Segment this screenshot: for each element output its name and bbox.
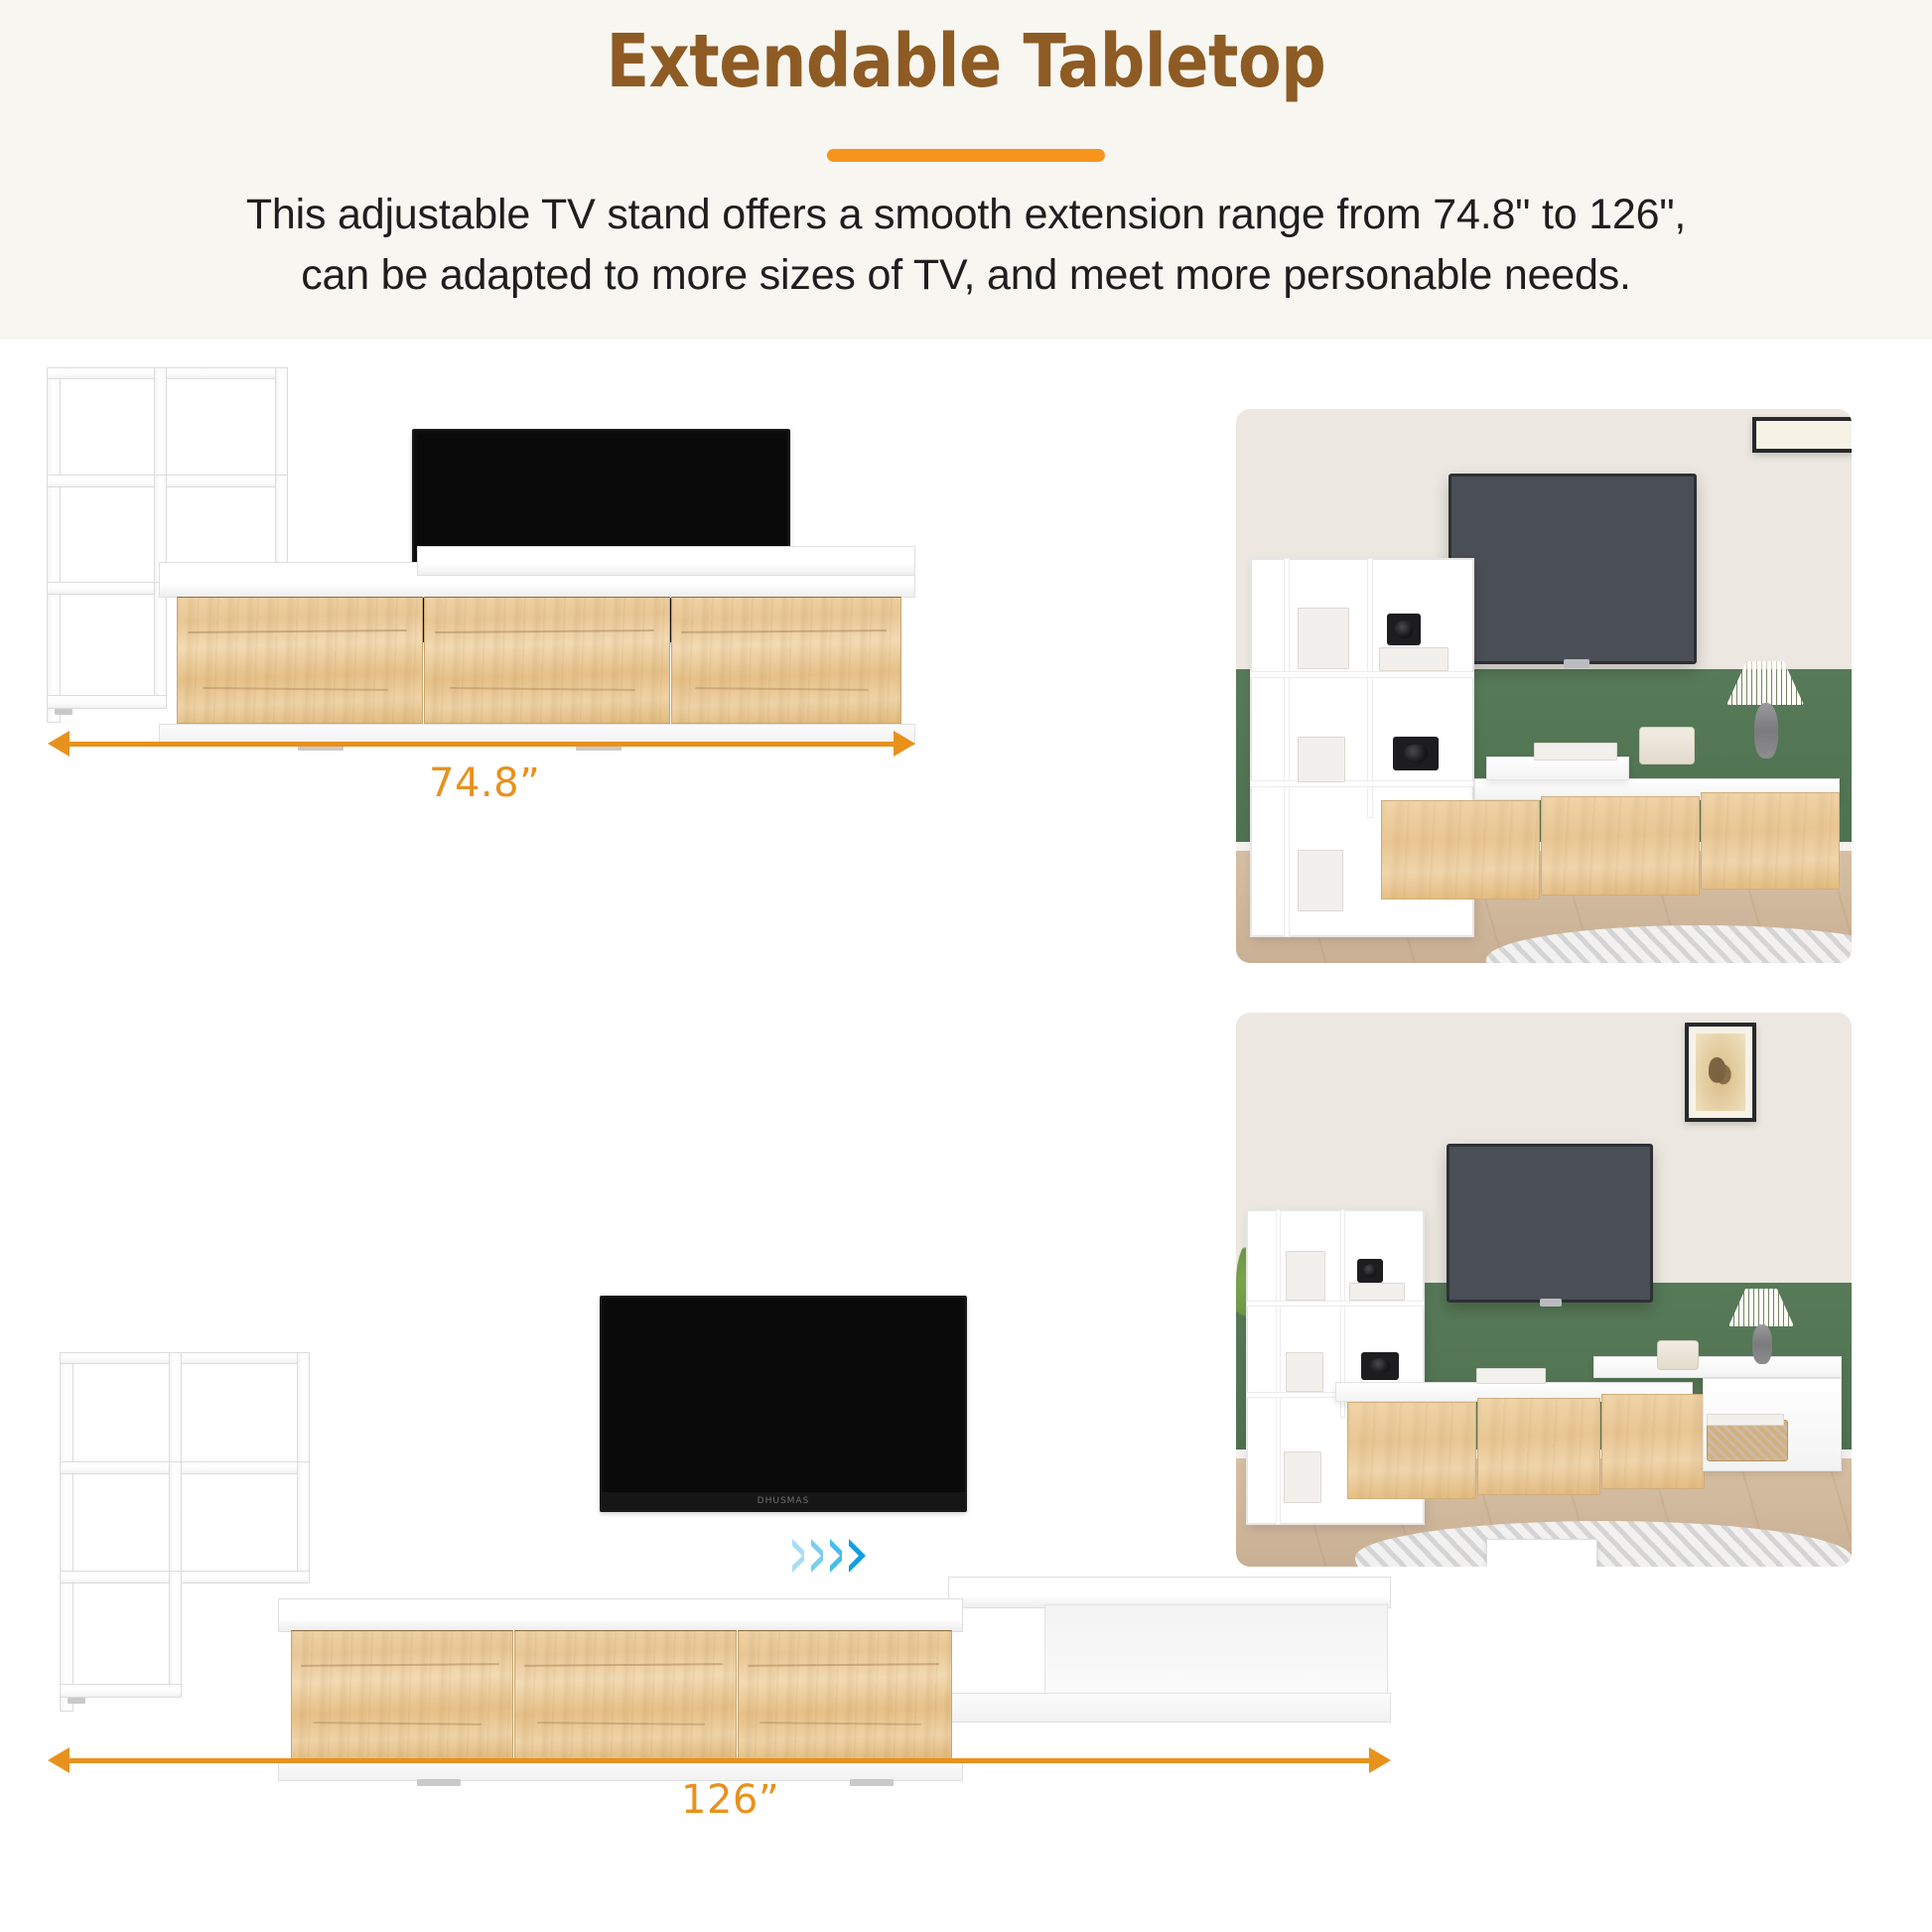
photo-top-cabinet-door-3 [1701, 792, 1840, 890]
compact-cabinet-door-3[interactable] [671, 597, 901, 724]
photo-bottom-camera-lens [1370, 1358, 1391, 1373]
extension-chevrons [792, 1539, 866, 1573]
photo-top-book-1 [1298, 608, 1349, 669]
compact-configuration-diagram: DHUSMAS [0, 340, 983, 1025]
photo-bottom-shelf-vert-1 [1276, 1209, 1281, 1525]
photo-top-tabletop-books [1534, 743, 1617, 760]
subtitle-line-1: This adjustable TV stand offers a smooth… [0, 185, 1932, 245]
photo-top-tv [1449, 474, 1697, 664]
ext-shelf-upper-right-side [297, 1352, 310, 1473]
photo-bottom-cabinet-door-2 [1477, 1398, 1600, 1495]
extended-tv: DHUSMAS [600, 1296, 967, 1512]
photo-bottom-art-canvas [1696, 1034, 1745, 1111]
ext-shelf-left-side [60, 1352, 73, 1712]
extended-cabinet-foot-2 [850, 1779, 894, 1786]
extended-dimension-arrow [48, 1757, 1391, 1763]
photo-bottom-lens-icon [1363, 1264, 1377, 1277]
photo-top-cabinet-door-2 [1541, 796, 1700, 896]
compact-cabinet-top-riser [417, 546, 915, 576]
photo-bottom-tv [1447, 1144, 1653, 1303]
extended-tv-brand-label: DHUSMAS [758, 1496, 810, 1506]
extended-tv-screen [605, 1301, 962, 1492]
chevron-right-icon-4 [849, 1539, 866, 1573]
photo-top-shelf-vert-2 [1367, 558, 1373, 818]
extended-cabinet-door-1[interactable] [291, 1630, 513, 1759]
extended-open-compartment [1044, 1604, 1388, 1698]
photo-top-lamp-base [1754, 703, 1778, 759]
ext-shelf-middle-right-side [297, 1461, 310, 1583]
ext-shelf-lower-divider [169, 1571, 182, 1698]
shelf-board-1 [47, 475, 288, 487]
photo-bottom-book-3 [1284, 1451, 1321, 1503]
shelf-upper-divider [154, 367, 167, 486]
subtitle-line-2: can be adapted to more sizes of TV, and … [0, 245, 1932, 306]
photo-bottom-basket-papers [1707, 1414, 1784, 1426]
extended-arrow-line [60, 1758, 1379, 1763]
shelf-lower-divider [154, 582, 167, 707]
header-band: Extendable Tabletop This adjustable TV s… [0, 0, 1932, 340]
infographic-page: Extendable Tabletop This adjustable TV s… [0, 0, 1932, 1932]
photo-top-lens-icon [1395, 621, 1414, 638]
page-title: Extendable Tabletop [135, 24, 1797, 101]
photo-bottom-basket [1707, 1420, 1788, 1461]
ext-shelf-bottom-board [60, 1684, 182, 1698]
extended-dimension-label: 126” [681, 1777, 779, 1823]
photo-bottom-lamp-base [1752, 1324, 1772, 1364]
photo-bottom-speaker [1657, 1340, 1699, 1370]
photo-top-shelf-horiz-1 [1250, 671, 1474, 678]
photo-bottom-framed-art [1685, 1023, 1756, 1122]
page-subtitle: This adjustable TV stand offers a smooth… [0, 185, 1932, 306]
photo-bottom-book-stack-1 [1349, 1283, 1405, 1301]
extended-cabinet-door-3[interactable] [738, 1630, 952, 1759]
shelf-foot [55, 709, 72, 715]
photo-bottom-cabinet-door-3 [1601, 1394, 1705, 1489]
compact-arrow-line [60, 742, 903, 747]
title-divider [827, 149, 1105, 162]
shelf-left-side [47, 367, 61, 723]
extended-configuration-diagram: DHUSMAS [0, 1042, 1231, 1932]
extended-cabinet-foot-1 [417, 1779, 461, 1786]
photo-bottom-tv-mount [1540, 1299, 1562, 1307]
compact-arrow-head-right [894, 731, 915, 757]
ext-shelf-board-1 [60, 1461, 310, 1474]
photo-top-camera [1393, 737, 1439, 770]
photo-top-book-stack-1 [1379, 647, 1449, 671]
extended-cabinet-top [278, 1598, 963, 1632]
compact-cabinet-door-1[interactable] [177, 597, 423, 724]
lifestyle-photo-top [1236, 409, 1852, 963]
photo-top-shelf-horiz-2 [1250, 780, 1474, 787]
photo-bottom-magazine [1486, 1539, 1597, 1567]
ext-shelf-board-2 [60, 1571, 310, 1584]
photo-top-speaker [1639, 727, 1695, 764]
photo-top-cabinet-door-1 [1381, 800, 1540, 899]
photo-bottom-extension-top [1593, 1356, 1842, 1378]
photo-top-tv-mount [1564, 659, 1589, 668]
photo-top-camera-lens [1403, 745, 1428, 763]
compact-dimension-label: 74.8” [429, 760, 540, 806]
photo-bottom-book-2 [1286, 1352, 1323, 1392]
photo-bottom-tabletop-books [1476, 1368, 1546, 1384]
photo-top-camera-lens-box [1387, 614, 1421, 645]
photo-bottom-book-1 [1286, 1251, 1325, 1301]
extended-open-section-base [948, 1693, 1391, 1723]
ext-shelf-top-board [60, 1352, 310, 1364]
ext-shelf-upper-divider [169, 1352, 182, 1473]
ext-shelf-middle-divider [169, 1461, 182, 1583]
shelf-upper-right-side [275, 367, 288, 486]
photo-bottom-shelf-horiz-1 [1246, 1301, 1425, 1307]
photo-top-book-3 [1298, 850, 1343, 911]
lifestyle-photo-bottom [1236, 1013, 1852, 1567]
photo-bottom-camera [1361, 1352, 1399, 1380]
photo-bottom-cabinet-door-1 [1347, 1402, 1476, 1499]
dog-illustration-icon [1709, 1055, 1732, 1092]
compact-cabinet-door-2[interactable] [424, 597, 670, 724]
ext-shelf-foot [68, 1698, 85, 1704]
photo-top-picture-frame [1752, 417, 1852, 453]
shelf-bottom-board [47, 695, 167, 709]
compact-dimension-arrow [48, 741, 915, 747]
extended-arrow-head-right [1369, 1747, 1391, 1773]
extended-tv-chin: DHUSMAS [602, 1492, 965, 1510]
shelf-top-board [47, 367, 288, 379]
photo-top-shelf-vert-1 [1284, 558, 1290, 937]
photo-bottom-lens-box [1357, 1259, 1383, 1283]
photo-top-book-2 [1298, 737, 1345, 782]
extended-cabinet-door-2[interactable] [514, 1630, 737, 1759]
